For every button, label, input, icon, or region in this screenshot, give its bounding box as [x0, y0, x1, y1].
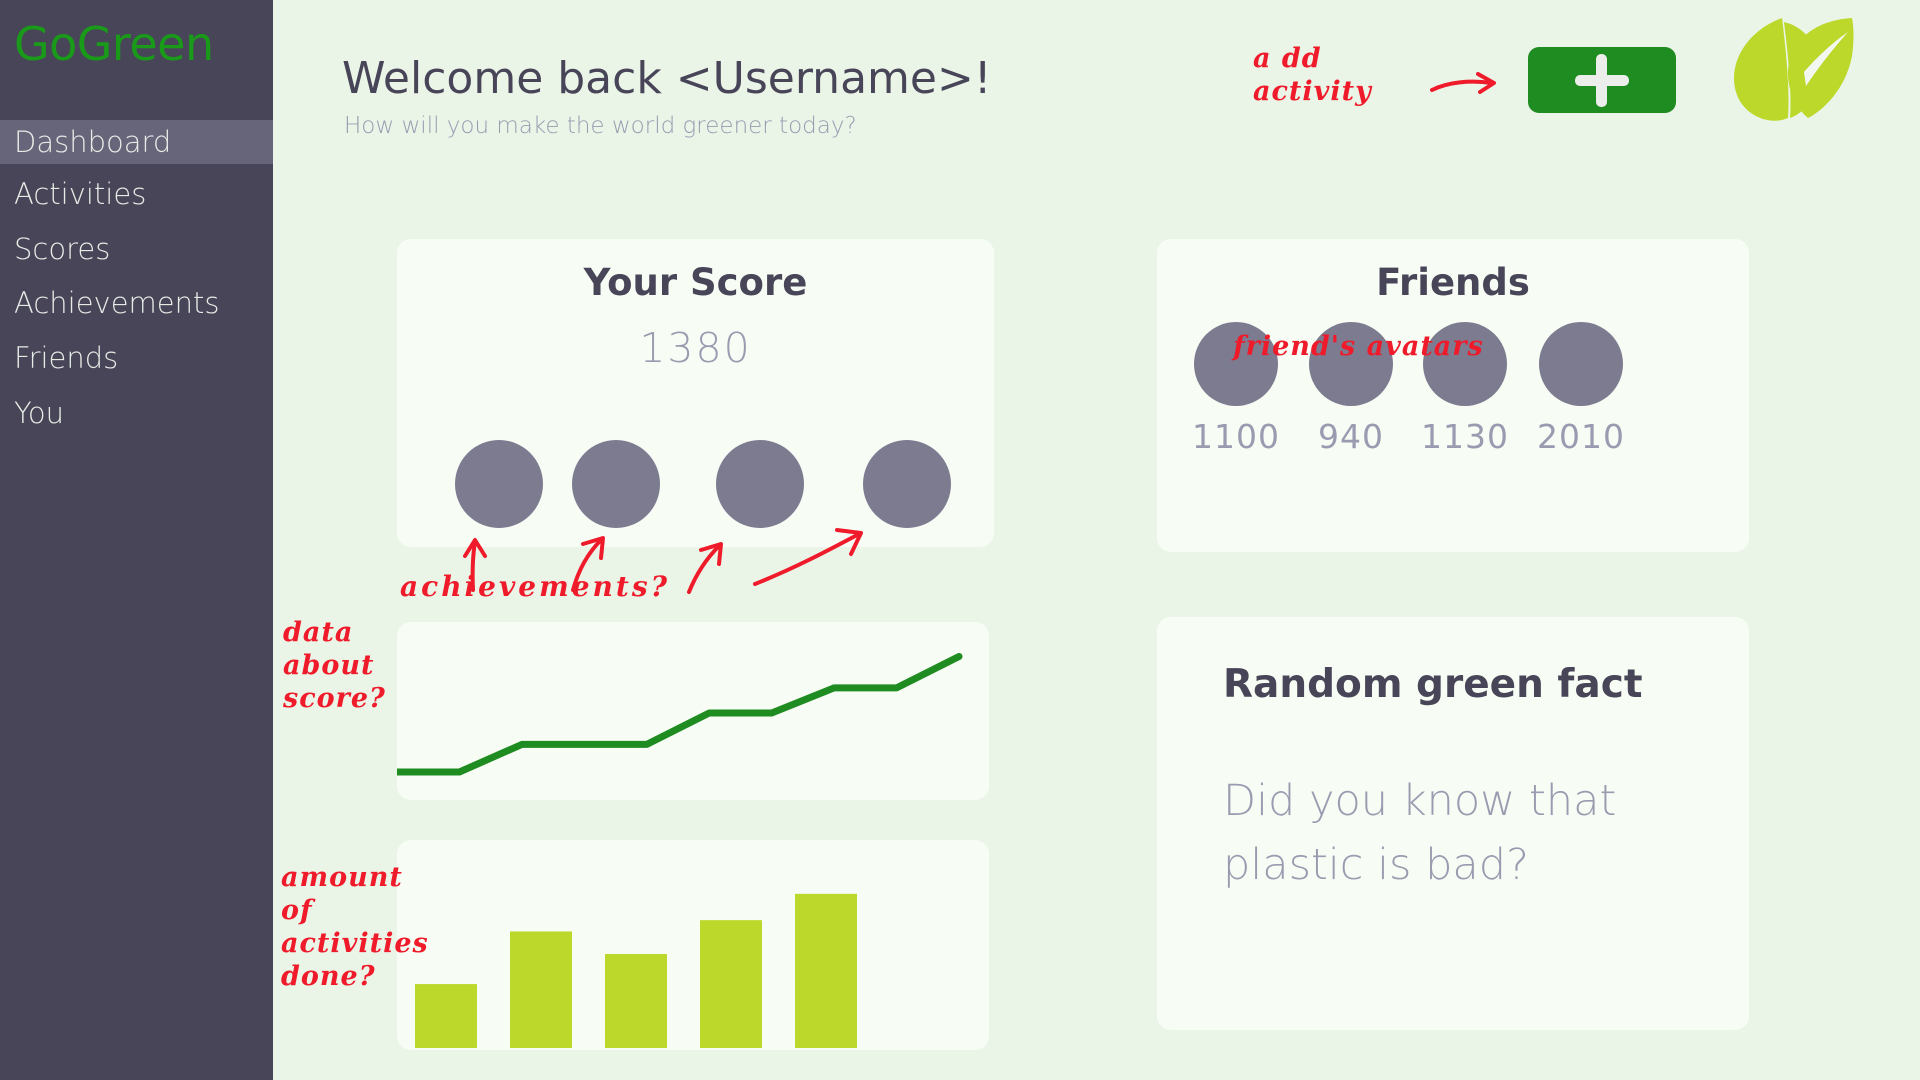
- random-fact-body: Did you know that plastic is bad?: [1223, 769, 1693, 897]
- score-line-chart: [397, 622, 989, 800]
- dashboard-page: GoGreen Dashboard Activities Scores Achi…: [0, 0, 1920, 1080]
- sidebar-item-activities[interactable]: Activities: [0, 172, 273, 216]
- page-title: Welcome back <Username>!: [342, 53, 991, 104]
- annotation-score-data: data about score?: [283, 616, 386, 715]
- leaf-logo-icon: [1720, 10, 1860, 130]
- annotation-add-activity: a dd activity: [1253, 42, 1372, 108]
- bar-series: [415, 894, 857, 1048]
- sidebar: GoGreen Dashboard Activities Scores Achi…: [0, 0, 273, 1080]
- annotation-achievements: achievements?: [400, 570, 670, 603]
- bar: [700, 920, 762, 1048]
- achievement-badge[interactable]: [863, 440, 951, 528]
- score-card: Your Score 1380: [397, 239, 994, 547]
- friend-avatar[interactable]: [1539, 322, 1623, 406]
- sidebar-item-you[interactable]: You: [0, 391, 273, 435]
- plus-icon: [1596, 54, 1607, 107]
- score-card-title: Your Score: [397, 261, 994, 304]
- bar: [415, 984, 477, 1048]
- line-series: [397, 657, 959, 773]
- bar: [605, 954, 667, 1048]
- achievement-badge[interactable]: [716, 440, 804, 528]
- activities-bar-chart-card: [397, 840, 989, 1050]
- sidebar-item-label: You: [14, 396, 64, 430]
- activities-bar-chart: [397, 840, 989, 1050]
- annotation-friends-avatars: friend's avatars: [1233, 330, 1484, 363]
- brand-logo-text[interactable]: GoGreen: [14, 17, 214, 71]
- annotation-activities-amount: amount of activities done?: [281, 861, 429, 993]
- achievement-badge[interactable]: [455, 440, 543, 528]
- friend-score: 2010: [1521, 417, 1641, 456]
- sidebar-item-scores[interactable]: Scores: [0, 227, 273, 271]
- achievement-badge[interactable]: [572, 440, 660, 528]
- page-subtitle: How will you make the world greener toda…: [344, 113, 857, 139]
- friend-score: 1130: [1405, 417, 1525, 456]
- friend-score: 940: [1291, 417, 1411, 456]
- score-value: 1380: [397, 324, 994, 372]
- sidebar-item-label: Activities: [14, 177, 146, 211]
- bar: [795, 894, 857, 1048]
- annotation-arrow-icon: [1430, 72, 1500, 102]
- sidebar-item-dashboard[interactable]: Dashboard: [0, 120, 273, 164]
- sidebar-item-label: Scores: [14, 232, 110, 266]
- friends-card: Friends 1100 940 1130 2010: [1157, 239, 1749, 552]
- bar: [510, 931, 572, 1048]
- friend-score: 1100: [1176, 417, 1296, 456]
- sidebar-item-label: Dashboard: [14, 125, 171, 159]
- random-fact-card: Random green fact Did you know that plas…: [1157, 617, 1749, 1030]
- add-activity-button[interactable]: [1528, 47, 1676, 113]
- sidebar-item-achievements[interactable]: Achievements: [0, 281, 273, 325]
- sidebar-item-label: Achievements: [14, 286, 220, 320]
- random-fact-title: Random green fact: [1223, 662, 1642, 707]
- friends-card-title: Friends: [1157, 261, 1749, 304]
- score-trend-chart-card: [397, 622, 989, 800]
- sidebar-item-label: Friends: [14, 341, 118, 375]
- sidebar-item-friends[interactable]: Friends: [0, 336, 273, 380]
